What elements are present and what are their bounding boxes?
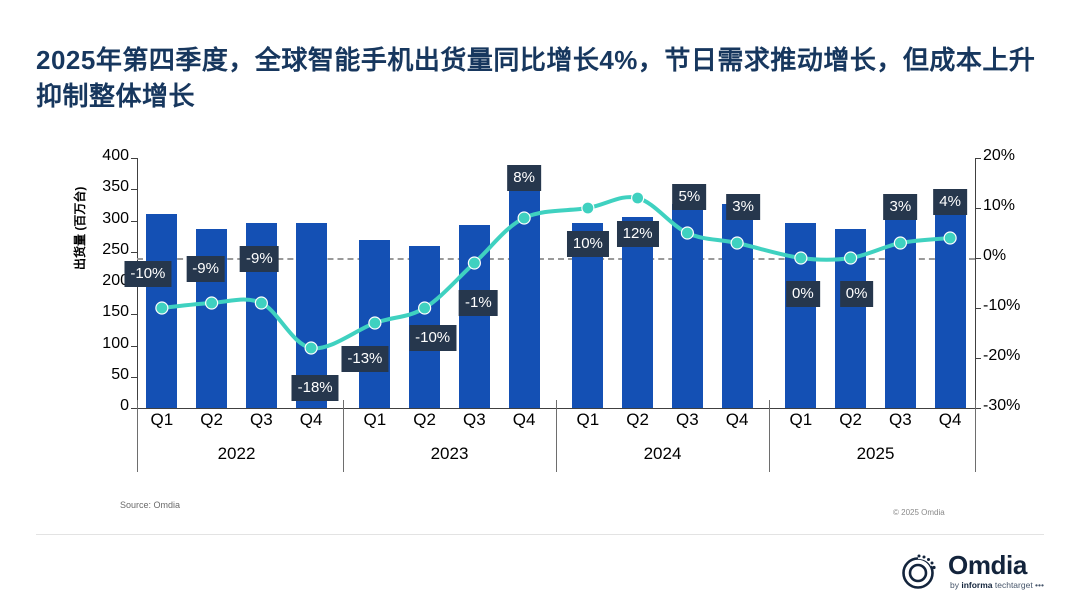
x-axis-quarter-label: Q3 <box>889 410 912 430</box>
x-axis-quarter-label: Q3 <box>463 410 486 430</box>
growth-value-label: 4% <box>933 189 967 215</box>
growth-data-point <box>795 252 807 264</box>
x-axis-quarter-label: Q1 <box>790 410 813 430</box>
x-axis-quarter-label: Q4 <box>939 410 962 430</box>
growth-value-label: 3% <box>726 194 760 220</box>
x-axis-quarter-label: Q4 <box>300 410 323 430</box>
y-axis-right-tick-label: 20% <box>983 147 1015 165</box>
y-axis-right-tick <box>975 208 981 209</box>
logo-tagline-brand: informa <box>961 580 992 590</box>
growth-value-label: 3% <box>884 194 918 220</box>
y-axis-right-tick-label: -30% <box>983 397 1020 415</box>
x-axis-quarter-label: Q1 <box>577 410 600 430</box>
chart-area: 050100150200250300350400 -30%-20%-10%0%1… <box>36 148 1044 488</box>
x-axis-group-separator <box>137 400 138 472</box>
growth-value-label: -10% <box>124 261 171 287</box>
growth-value-label: 10% <box>567 231 609 257</box>
logo-tagline-by: by <box>950 580 961 590</box>
y-axis-right-tick <box>975 258 981 259</box>
growth-data-point <box>419 302 431 314</box>
growth-data-point <box>156 302 168 314</box>
logo-tagline-rest: techtarget <box>993 580 1033 590</box>
x-axis-group-separator <box>769 400 770 472</box>
growth-data-point <box>468 257 480 269</box>
growth-data-point <box>582 202 594 214</box>
growth-data-point <box>369 317 381 329</box>
growth-data-point <box>681 227 693 239</box>
growth-data-point <box>944 232 956 244</box>
y-axis-left-tick-label: 250 <box>102 241 129 259</box>
growth-value-label: -1% <box>459 290 498 316</box>
y-axis-right-tick <box>975 308 981 309</box>
x-axis-quarter-label: Q2 <box>413 410 436 430</box>
source-note: Source: Omdia <box>120 500 180 510</box>
growth-data-point <box>255 297 267 309</box>
x-axis-year-label: 2025 <box>857 444 895 464</box>
omdia-logo-text: Omdia <box>948 550 1027 581</box>
x-axis-quarter-label: Q3 <box>250 410 273 430</box>
omdia-logo: Omdia by informa techtarget ••• <box>896 548 1052 596</box>
y-axis-left-tick-label: 400 <box>102 147 129 165</box>
y-axis-left-tick-label: 100 <box>102 335 129 353</box>
growth-value-label: -10% <box>409 325 456 351</box>
x-axis-quarter-label: Q2 <box>626 410 649 430</box>
x-axis-group-separator <box>343 400 344 472</box>
growth-data-point <box>518 212 530 224</box>
slide: 2025年第四季度，全球智能手机出货量同比增长4%，节日需求推动增长，但成本上升… <box>0 0 1080 608</box>
growth-data-point <box>894 237 906 249</box>
x-axis-quarter-label: Q3 <box>676 410 699 430</box>
y-axis-right-tick-label: 0% <box>983 247 1006 265</box>
growth-data-point <box>845 252 857 264</box>
logo-dots-icon: ••• <box>1033 580 1044 590</box>
y-axis-right-tick-label: 10% <box>983 197 1015 215</box>
y-axis-left-title: 出货量 (百万台) <box>71 187 88 270</box>
growth-value-label: 0% <box>786 281 820 307</box>
y-axis-right-tick-label: -20% <box>983 347 1020 365</box>
x-axis-year-label: 2023 <box>431 444 469 464</box>
x-axis-quarter-label: Q4 <box>726 410 749 430</box>
x-axis-quarter-label: Q1 <box>364 410 387 430</box>
x-axis-group-separator <box>975 400 976 472</box>
y-axis-left-tick-label: 0 <box>120 397 129 415</box>
page-title: 2025年第四季度，全球智能手机出货量同比增长4%，节日需求推动增长，但成本上升… <box>36 42 1046 114</box>
growth-value-label: 0% <box>840 281 874 307</box>
plot-area: 050100150200250300350400 -30%-20%-10%0%1… <box>137 158 975 408</box>
growth-value-label: -18% <box>292 375 339 401</box>
x-axis-group-separator <box>556 400 557 472</box>
y-axis-left-tick-label: 350 <box>102 178 129 196</box>
x-axis-year-label: 2024 <box>644 444 682 464</box>
copyright-note: © 2025 Omdia <box>893 508 945 517</box>
growth-line <box>162 197 950 348</box>
y-axis-left-tick-label: 300 <box>102 210 129 228</box>
y-axis-right-tick <box>975 158 981 159</box>
omdia-logo-mark-icon <box>898 550 942 594</box>
growth-value-label: -13% <box>341 346 388 372</box>
x-axis-quarter-label: Q1 <box>151 410 174 430</box>
x-axis-quarter-label: Q2 <box>200 410 223 430</box>
y-axis-left-tick-label: 150 <box>102 303 129 321</box>
footer-divider <box>36 534 1044 535</box>
growth-data-point <box>206 297 218 309</box>
x-axis-quarter-label: Q4 <box>513 410 536 430</box>
y-axis-right-tick <box>975 358 981 359</box>
x-axis-quarter-label: Q2 <box>839 410 862 430</box>
growth-data-point <box>632 192 644 204</box>
growth-value-label: 12% <box>617 221 659 247</box>
growth-value-label: 5% <box>673 184 707 210</box>
growth-data-point <box>305 342 317 354</box>
growth-value-label: -9% <box>240 246 279 272</box>
growth-value-label: -9% <box>186 256 225 282</box>
y-axis-right <box>975 158 976 408</box>
x-axis-year-label: 2022 <box>218 444 256 464</box>
growth-data-point <box>731 237 743 249</box>
y-axis-left-tick-label: 50 <box>111 366 129 384</box>
omdia-logo-tagline: by informa techtarget ••• <box>950 580 1044 590</box>
growth-value-label: 8% <box>507 165 541 191</box>
y-axis-right-tick-label: -10% <box>983 297 1020 315</box>
